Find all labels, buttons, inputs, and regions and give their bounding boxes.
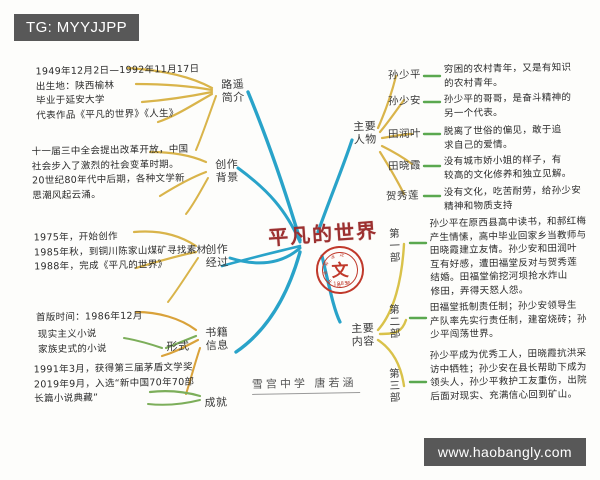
character-desc-tianrunye: 脱离了世俗的偏见，敢于追 求自己的爱情。 xyxy=(444,123,594,153)
branch-label-luyao[interactable]: 路遥 简介 xyxy=(216,77,251,104)
part-desc-three: 孙少平成为优秀工人，田晓霞抗洪采 访中牺牲；孙少安在县长帮助下成为 领头人，孙少… xyxy=(430,347,597,404)
part-label-three[interactable]: 第 三 部 xyxy=(387,368,402,404)
signature: 雪宫中学 唐若涵 xyxy=(252,374,360,395)
school-seal: 文 1985 雪宫中学读书社 xyxy=(315,245,365,295)
character-name-sunshaoan[interactable]: 孙少安 xyxy=(388,94,426,107)
branch-text-chengjiu: 1991年3月，获得第三届茅盾文学奖 2019年9月，入选“新中国70年70部 … xyxy=(34,360,211,407)
branch-text-xingshi: 现实主义小说 家族史式的小说 xyxy=(38,326,198,358)
character-desc-sunshaoping: 穷困的农村青年，又是有知识 的农村青年。 xyxy=(444,61,594,91)
character-desc-hexiulian: 没有文化，吃苦耐劳，给孙少安 精神和物质支持 xyxy=(444,184,596,214)
watermark-url: www.haobangly.com xyxy=(424,438,586,466)
character-name-sunshaoping[interactable]: 孙少平 xyxy=(388,68,426,81)
character-name-tianrunye[interactable]: 田润叶 xyxy=(388,127,426,140)
part-desc-two: 田福堂抵制责任制；孙少安领导生 产队率先实行责任制，建窑烧砖；孙 少平闯荡世界。 xyxy=(430,299,597,342)
part-desc-one: 孙少平在原西县高中读书，和郝红梅 产生情愫，高中毕业回家乡当教师与 田晓霞建立友… xyxy=(429,215,596,299)
part-label-two[interactable]: 第 二 部 xyxy=(387,304,402,340)
branch-text-jingguo: 1975年，开始创作 1985年秋，到铜川陈家山煤矿寻找素材 1988年，完成《… xyxy=(34,228,211,275)
branch-text-luyao: 1949年12月2日—1992年11月17日 出生地：陕西榆林 毕业于延安大学 … xyxy=(36,63,207,124)
seal-ring-text: 雪宫中学读书社 xyxy=(317,247,363,293)
character-name-tianxiaoxia[interactable]: 田晓霞 xyxy=(388,159,426,172)
branch-label-zhuyao-renwu[interactable]: 主要 人物 xyxy=(348,119,383,146)
character-desc-sunshaoan: 孙少平的哥哥，是奋斗精神的 另一个代表。 xyxy=(444,91,594,121)
watermark-tag: TG: MYYJJPP xyxy=(14,14,139,41)
branch-label-shuji[interactable]: 书籍 信息 xyxy=(200,325,235,352)
branch-text-shuji: 首版时间：1986年12月 xyxy=(36,309,196,326)
branch-label-zhuyao-neirong[interactable]: 主要 内容 xyxy=(346,321,381,348)
character-desc-tianxiaoxia: 没有城市娇小姐的样子，有 较高的文化修养和独立见解。 xyxy=(444,153,596,183)
character-name-hexiulian[interactable]: 贺秀莲 xyxy=(386,189,426,202)
branch-text-beijing: 十一届三中全会提出改革开放，中国 社会步入了激烈的社会变革时期。 20世纪80年… xyxy=(32,142,209,203)
part-label-one[interactable]: 第 一 部 xyxy=(387,228,402,264)
branch-label-beijing[interactable]: 创作 背景 xyxy=(210,157,245,184)
mindmap-canvas: 平凡的世界 文 1985 雪宫中学读书社 雪宫中学 唐若涵 路遥 简介 创作 背… xyxy=(0,0,600,480)
